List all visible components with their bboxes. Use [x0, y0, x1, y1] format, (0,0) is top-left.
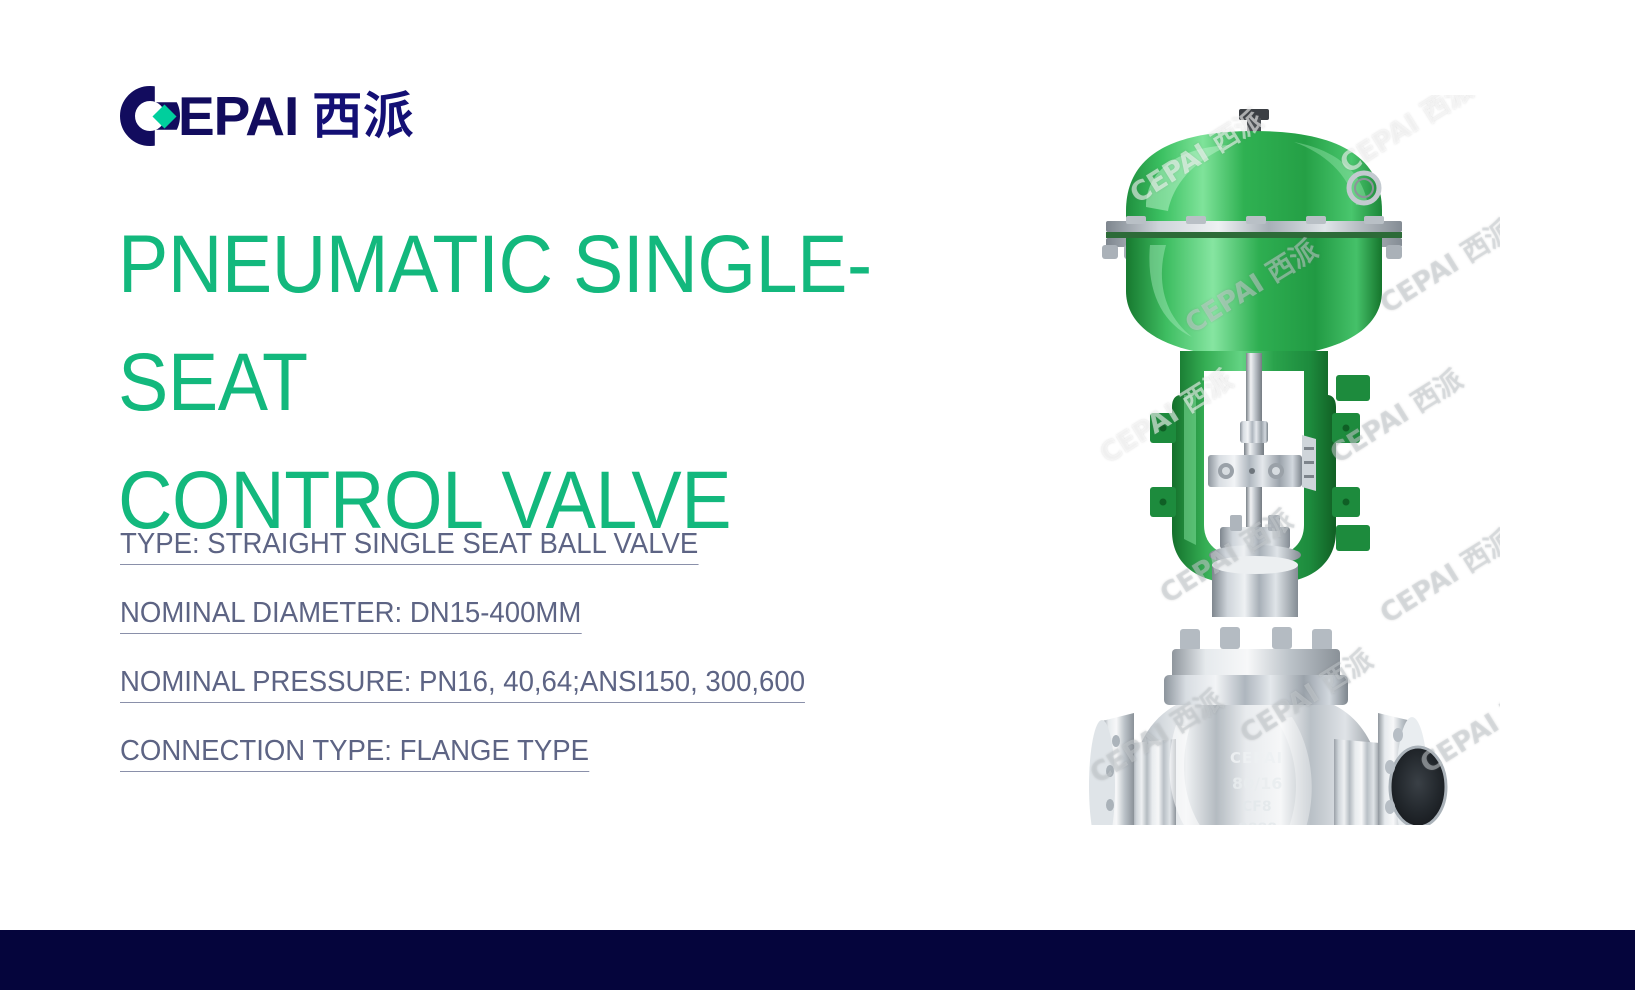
- spec-item-type: TYPE: STRAIGHT SINGLE SEAT BALL VALVE: [120, 528, 698, 565]
- body-marking-serial: 8888: [1238, 821, 1277, 825]
- page-title: PNEUMATIC SINGLE-SEAT CONTROL VALVE: [118, 206, 1038, 560]
- brand-logo: EPAI 西派: [120, 84, 414, 148]
- inlet-flange: [1089, 713, 1134, 825]
- body-marking-cepai: CEPAI: [1230, 749, 1283, 767]
- body-marking-size: 80/16: [1232, 774, 1282, 793]
- brand-name-latin: EPAI: [178, 88, 298, 144]
- actuator-vent-icon: [1239, 109, 1269, 134]
- outlet-flange: [1378, 713, 1446, 825]
- spec-list: TYPE: STRAIGHT SINGLE SEAT BALL VALVE NO…: [120, 528, 1020, 804]
- spec-item-nominal-pressure: NOMINAL PRESSURE: PN16, 40,64;ANSI150, 3…: [120, 666, 805, 703]
- actuator-upper-housing: [1126, 131, 1382, 221]
- body-marking-material: CF8: [1242, 799, 1272, 815]
- cepai-c-mark-icon: [120, 86, 180, 146]
- bonnet-studs: [1180, 627, 1332, 651]
- valve-body: CEPAI 80/16 CF8 8888: [1132, 705, 1380, 825]
- slide-canvas: EPAI 西派 PNEUMATIC SINGLE-SEAT CONTROL VA…: [0, 0, 1635, 990]
- actuator-lower-housing: [1126, 238, 1382, 357]
- footer-bar: [0, 930, 1635, 990]
- spec-item-nominal-diameter: NOMINAL DIAMETER: DN15-400MM: [120, 597, 581, 634]
- product-image: CEPAI 80/16 CF8 8888: [1080, 95, 1500, 825]
- brand-name-cn: 西派: [312, 88, 414, 144]
- spec-item-connection-type: CONNECTION TYPE: FLANGE TYPE: [120, 735, 589, 772]
- bonnet-flange: [1164, 627, 1348, 705]
- bonnet-neck: [1212, 556, 1298, 617]
